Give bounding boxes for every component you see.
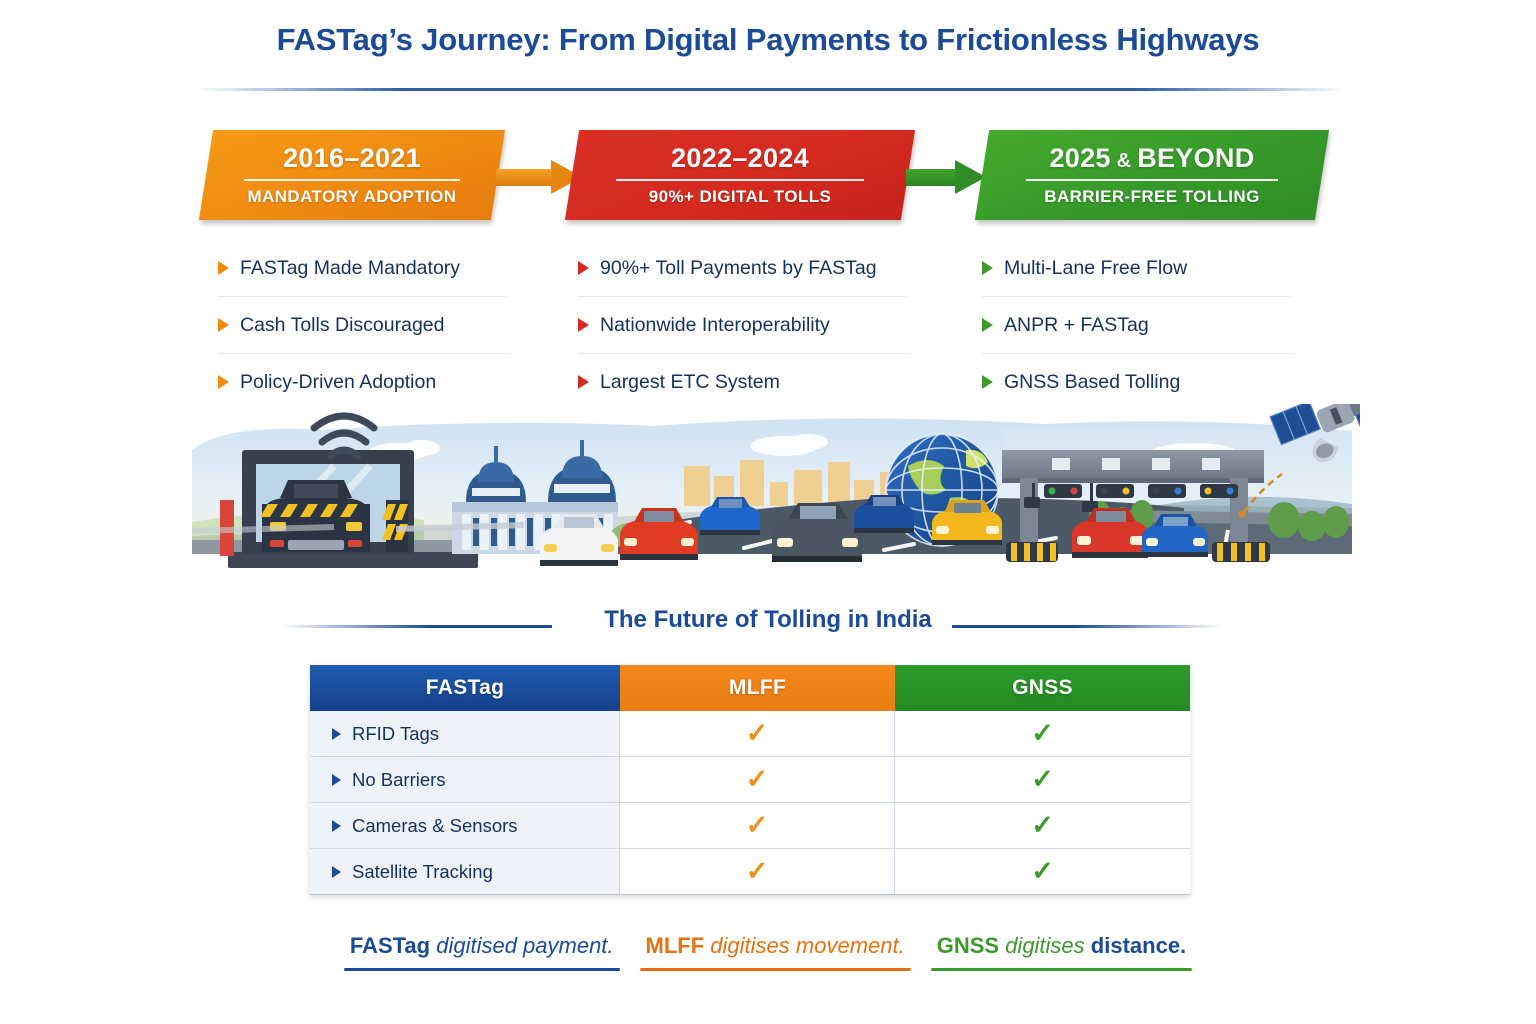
bullet-label: ANPR + FASTag (1004, 314, 1149, 337)
phase-banner-subtitle: BARRIER-FREE TOLLING (1044, 188, 1259, 205)
table-header-row: FASTag MLFF GNSS (310, 665, 1190, 711)
phase-banner-subtitle: 90%+ DIGITAL TOLLS (649, 188, 831, 205)
tagline-rest: digitises movement. (704, 933, 905, 958)
triangle-bullet-icon (982, 318, 993, 332)
table-row-label-cell: Cameras & Sensors (310, 803, 620, 848)
table-cell-mlff: ✓ (620, 757, 895, 802)
list-item[interactable]: 90%+ Toll Payments by FASTag (578, 240, 908, 297)
bullet-label: GNSS Based Tolling (1004, 371, 1180, 394)
bullet-label: 90%+ Toll Payments by FASTag (600, 257, 877, 280)
tagline-strong: GNSS (937, 933, 999, 958)
bullet-label: Cash Tolls Discouraged (240, 314, 445, 337)
table-row[interactable]: RFID Tags ✓ ✓ (310, 711, 1190, 757)
table-cell-mlff: ✓ (620, 711, 895, 756)
banner-separator (244, 179, 460, 181)
bullet-label: Largest ETC System (600, 371, 780, 394)
tagline-strong: FASTag (350, 933, 430, 958)
triangle-bullet-icon (578, 261, 589, 275)
check-icon: ✓ (746, 766, 769, 793)
tagline-gnss: GNSS digitises distance. (931, 932, 1192, 971)
phase-banner-2022-2024[interactable]: 2022–2024 90%+ DIGITAL TOLLS (565, 130, 915, 220)
phase-banner-years: 2022–2024 (671, 145, 809, 172)
table-cell-mlff: ✓ (620, 803, 895, 848)
table-cell-gnss: ✓ (895, 757, 1190, 802)
check-icon: ✓ (746, 858, 769, 885)
comparison-table: FASTag MLFF GNSS RFID Tags ✓ ✓ No Barrie… (310, 665, 1190, 895)
highway-illustration (184, 404, 1360, 580)
bullet-label: FASTag Made Mandatory (240, 257, 460, 280)
phase-banner-years: 2016–2021 (283, 145, 421, 172)
table-cell-gnss: ✓ (895, 849, 1190, 894)
phase-banner-2016-2021[interactable]: 2016–2021 MANDATORY ADOPTION (199, 130, 505, 220)
list-item[interactable]: Policy-Driven Adoption (218, 354, 508, 410)
tagline-strong: MLFF (646, 933, 705, 958)
phase-banner-row: 2016–2021 MANDATORY ADOPTION 2022–2024 9… (0, 130, 1536, 226)
bullet-label: Nationwide Interoperability (600, 314, 830, 337)
section-rule-right (952, 625, 1224, 628)
phase-banner-subtitle: MANDATORY ADOPTION (247, 188, 456, 205)
infographic-page: FASTag’s Journey: From Digital Payments … (0, 0, 1536, 1024)
tagline-tail: distance. (1091, 933, 1186, 958)
list-item[interactable]: Multi-Lane Free Flow (982, 240, 1292, 297)
page-title: FASTag’s Journey: From Digital Payments … (0, 22, 1536, 58)
table-cell-gnss: ✓ (895, 803, 1190, 848)
triangle-bullet-icon (218, 375, 229, 389)
triangle-bullet-icon (982, 261, 993, 275)
tagline-underline (344, 968, 620, 971)
check-icon: ✓ (746, 720, 769, 747)
bullet-column-2022-2024: 90%+ Toll Payments by FASTag Nationwide … (578, 240, 908, 410)
list-item[interactable]: Cash Tolls Discouraged (218, 297, 508, 354)
list-item[interactable]: Nationwide Interoperability (578, 297, 908, 354)
list-item[interactable]: GNSS Based Tolling (982, 354, 1292, 410)
triangle-bullet-icon (578, 318, 589, 332)
bullet-column-2025-beyond: Multi-Lane Free Flow ANPR + FASTag GNSS … (982, 240, 1292, 410)
title-divider (196, 88, 1346, 91)
table-row-label: Satellite Tracking (352, 861, 493, 883)
table-row-label: No Barriers (352, 769, 446, 791)
table-column-header-fastag: FASTag (310, 665, 620, 711)
table-column-header-mlff: MLFF (620, 665, 895, 711)
table-cell-mlff: ✓ (620, 849, 895, 894)
bullet-label: Policy-Driven Adoption (240, 371, 436, 394)
check-icon: ✓ (1031, 766, 1054, 793)
bullet-label: Multi-Lane Free Flow (1004, 257, 1187, 280)
footer-taglines: FASTag digitised payment. MLFF digitises… (0, 932, 1536, 992)
table-row-label: Cameras & Sensors (352, 815, 518, 837)
list-item[interactable]: FASTag Made Mandatory (218, 240, 508, 297)
check-icon: ✓ (1031, 812, 1054, 839)
tagline-rest: digitises (999, 933, 1091, 958)
table-row[interactable]: Cameras & Sensors ✓ ✓ (310, 803, 1190, 849)
triangle-bullet-icon (578, 375, 589, 389)
triangle-bullet-icon (218, 261, 229, 275)
triangle-bullet-icon (218, 318, 229, 332)
section-heading: The Future of Tolling in India (0, 606, 1536, 634)
bullet-column-2016-2021: FASTag Made Mandatory Cash Tolls Discour… (218, 240, 508, 410)
triangle-bullet-icon (332, 728, 341, 740)
list-item[interactable]: ANPR + FASTag (982, 297, 1292, 354)
tagline-mlff: MLFF digitises movement. (640, 932, 911, 971)
table-column-header-gnss: GNSS (895, 665, 1190, 711)
table-cell-gnss: ✓ (895, 711, 1190, 756)
check-icon: ✓ (746, 812, 769, 839)
triangle-bullet-icon (332, 820, 341, 832)
arrow-right-icon-green (906, 160, 988, 194)
table-row-label-cell: No Barriers (310, 757, 620, 802)
tagline-underline (931, 968, 1192, 971)
tagline-fastag: FASTag digitised payment. (344, 932, 620, 971)
list-item[interactable]: Largest ETC System (578, 354, 908, 410)
banner-separator (1026, 179, 1278, 181)
check-icon: ✓ (1031, 720, 1054, 747)
triangle-bullet-icon (332, 774, 341, 786)
tagline-underline (640, 968, 911, 971)
banner-separator (616, 179, 865, 181)
triangle-bullet-icon (332, 866, 341, 878)
phase-bullet-columns: FASTag Made Mandatory Cash Tolls Discour… (0, 240, 1536, 405)
tagline-rest: digitised payment. (430, 933, 613, 958)
section-heading-block: The Future of Tolling in India (0, 606, 1536, 646)
table-row-label-cell: RFID Tags (310, 711, 620, 756)
phase-banner-years: 2025 & BEYOND (1049, 145, 1254, 172)
table-row[interactable]: Satellite Tracking ✓ ✓ (310, 849, 1190, 895)
table-row-label: RFID Tags (352, 723, 439, 745)
check-icon: ✓ (1031, 858, 1054, 885)
table-row-label-cell: Satellite Tracking (310, 849, 620, 894)
triangle-bullet-icon (982, 375, 993, 389)
table-row[interactable]: No Barriers ✓ ✓ (310, 757, 1190, 803)
phase-banner-2025-beyond[interactable]: 2025 & BEYOND BARRIER-FREE TOLLING (975, 130, 1329, 220)
